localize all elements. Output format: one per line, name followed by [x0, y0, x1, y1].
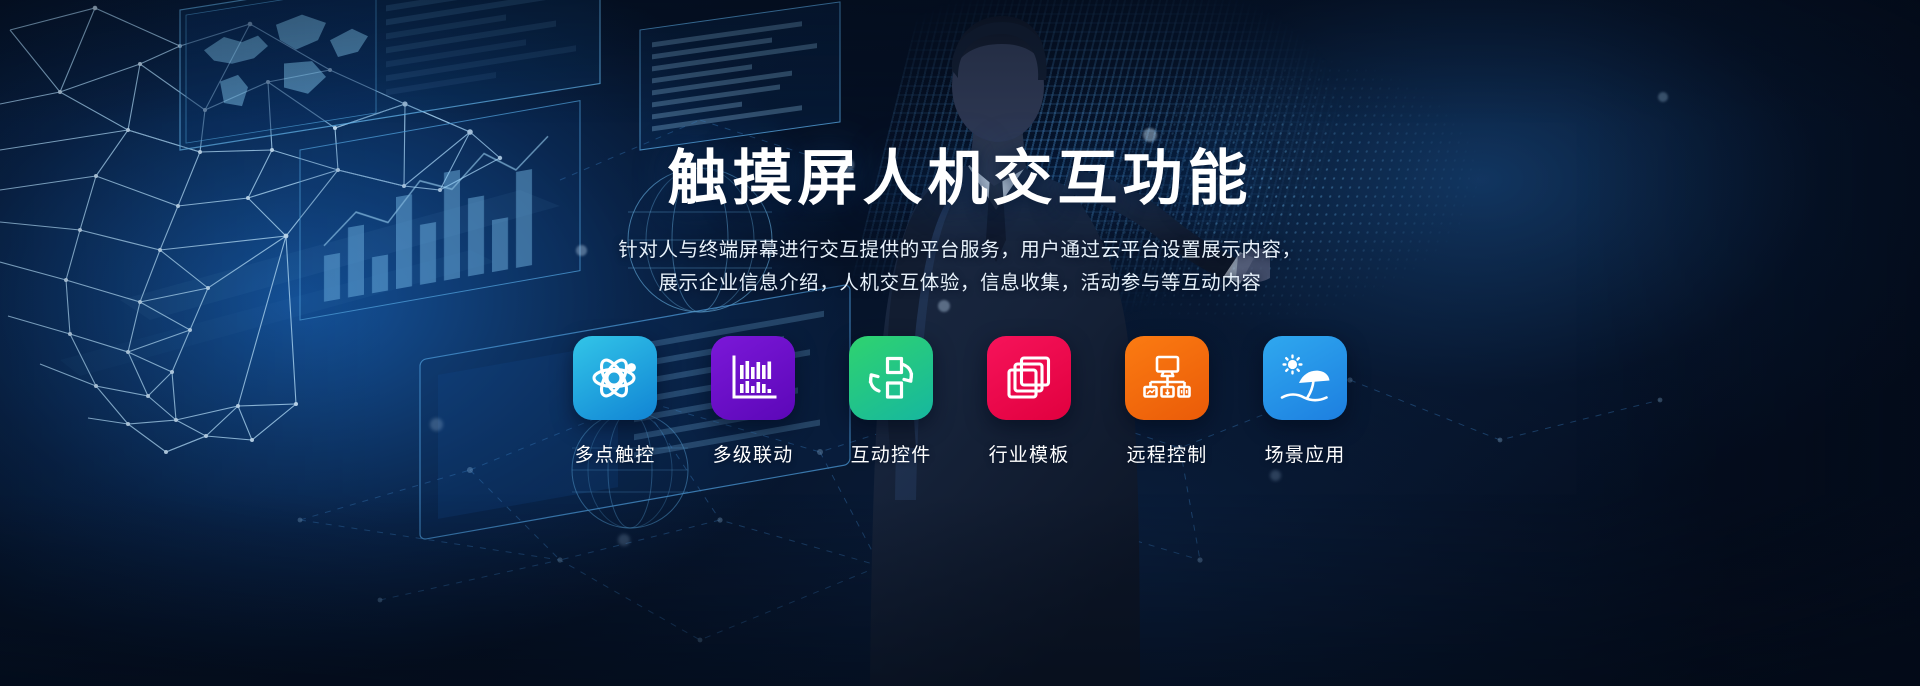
subtitle-line-2: 展示企业信息介绍，人机交互体验，信息收集，活动参与等互动内容 — [618, 267, 1301, 300]
network-monitor-icon — [1141, 352, 1193, 404]
feature-label: 远程控制 — [1127, 440, 1208, 467]
feature-item-multi-level-linkage[interactable]: 多级联动 — [711, 336, 795, 467]
feature-label: 多级联动 — [713, 440, 794, 467]
feature-tile[interactable] — [1125, 336, 1209, 420]
bar-chart-icon — [728, 353, 778, 403]
feature-item-remote-control[interactable]: 远程控制 — [1125, 336, 1209, 467]
feature-tile[interactable] — [711, 336, 795, 420]
hero-banner: 触摸屏人机交互功能 针对人与终端屏幕进行交互提供的平台服务，用户通过云平台设置展… — [0, 0, 1920, 686]
banner-content: 触摸屏人机交互功能 针对人与终端屏幕进行交互提供的平台服务，用户通过云平台设置展… — [0, 0, 1920, 686]
feature-label: 行业模板 — [989, 440, 1070, 467]
feature-tile[interactable] — [987, 336, 1071, 420]
page-title: 触摸屏人机交互功能 — [668, 148, 1253, 210]
feature-list: 多点触控 — [573, 336, 1347, 467]
feature-tile[interactable] — [849, 336, 933, 420]
sync-squares-icon — [865, 352, 917, 404]
feature-item-interactive-widget[interactable]: 互动控件 — [849, 336, 933, 467]
feature-tile[interactable] — [573, 336, 657, 420]
stacked-windows-icon — [1004, 353, 1054, 403]
feature-item-multi-touch[interactable]: 多点触控 — [573, 336, 657, 467]
feature-label: 场景应用 — [1265, 440, 1346, 467]
atom-icon — [589, 352, 641, 404]
beach-scene-icon — [1279, 352, 1331, 404]
feature-item-industry-template[interactable]: 行业模板 — [987, 336, 1071, 467]
subtitle-line-1: 针对人与终端屏幕进行交互提供的平台服务，用户通过云平台设置展示内容， — [618, 234, 1301, 267]
feature-tile[interactable] — [1263, 336, 1347, 420]
banner-subtitle: 针对人与终端屏幕进行交互提供的平台服务，用户通过云平台设置展示内容， 展示企业信… — [618, 234, 1301, 300]
feature-label: 多点触控 — [575, 440, 656, 467]
feature-label: 互动控件 — [851, 440, 932, 467]
feature-item-scene-application[interactable]: 场景应用 — [1263, 336, 1347, 467]
